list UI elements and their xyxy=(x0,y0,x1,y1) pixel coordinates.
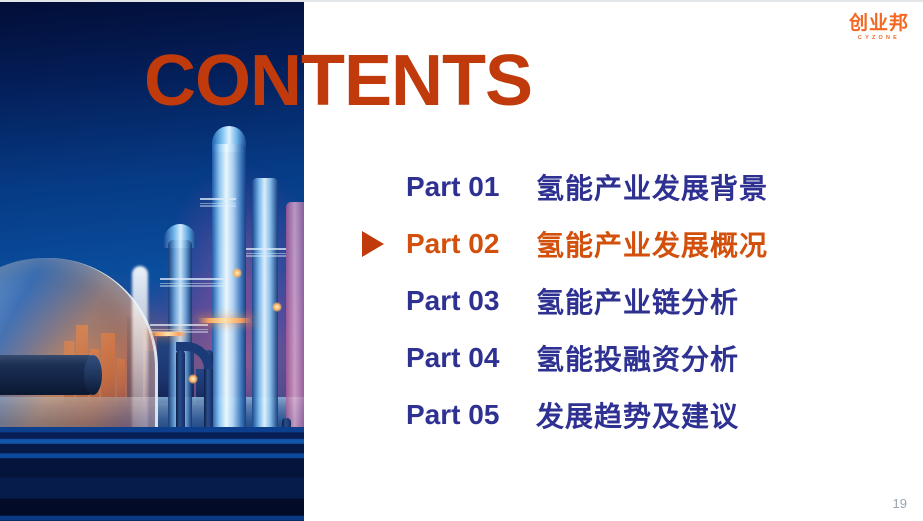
catwalk-tower-a xyxy=(200,198,236,207)
catwalk-tower-b xyxy=(246,248,286,257)
glow-bar-3 xyxy=(148,332,188,336)
glow-bar-1 xyxy=(196,318,254,323)
toc-part-label: Part 04 xyxy=(406,342,536,374)
cyzone-logo[interactable]: 创业邦 CYZONE xyxy=(849,14,909,42)
toc-item-part-04[interactable]: Part 04 氢能投融资分析 xyxy=(358,329,898,386)
toc-part-title: 氢能投融资分析 xyxy=(536,338,739,378)
catwalk-upper xyxy=(160,278,224,287)
toc-part-label: Part 02 xyxy=(406,228,536,260)
toc-item-part-03[interactable]: Part 03 氢能产业链分析 xyxy=(358,272,898,329)
toc-part-label: Part 03 xyxy=(406,285,536,317)
distillation-tower-b xyxy=(252,178,278,446)
foreground-ground-pipes xyxy=(0,427,304,521)
page-number: 19 xyxy=(893,496,907,511)
toc-part-title: 氢能产业发展背景 xyxy=(536,167,768,207)
toc-part-title: 发展趋势及建议 xyxy=(536,395,739,435)
toc-part-title: 氢能产业链分析 xyxy=(536,281,739,321)
toc-item-part-02[interactable]: Part 02 氢能产业发展概况 xyxy=(358,215,898,272)
logo-chinese-text: 创业邦 xyxy=(849,14,909,33)
play-triangle-icon xyxy=(362,231,384,257)
toc-part-title: 氢能产业发展概况 xyxy=(536,224,768,264)
cylinder-tank-cap xyxy=(84,355,102,395)
toc-marker-slot xyxy=(358,231,406,257)
logo-english-text: CYZONE xyxy=(849,34,909,42)
table-of-contents: Part 01 氢能产业发展背景 Part 02 氢能产业发展概况 Part 0… xyxy=(358,158,898,443)
distillation-tower-a xyxy=(212,144,246,444)
indicator-light-2 xyxy=(272,302,282,312)
indicator-light-1 xyxy=(232,268,242,278)
slide-contents: CONTENTS Part 01 氢能产业发展背景 Part 02 氢能产业发展… xyxy=(0,0,923,521)
toc-item-part-05[interactable]: Part 05 发展趋势及建议 xyxy=(358,386,898,443)
page-title: CONTENTS xyxy=(144,44,532,118)
indicator-light-3 xyxy=(188,374,198,384)
toc-part-label: Part 05 xyxy=(406,399,536,431)
toc-item-part-01[interactable]: Part 01 氢能产业发展背景 xyxy=(358,158,898,215)
distillation-tower-d xyxy=(286,202,304,446)
toc-part-label: Part 01 xyxy=(406,171,536,203)
